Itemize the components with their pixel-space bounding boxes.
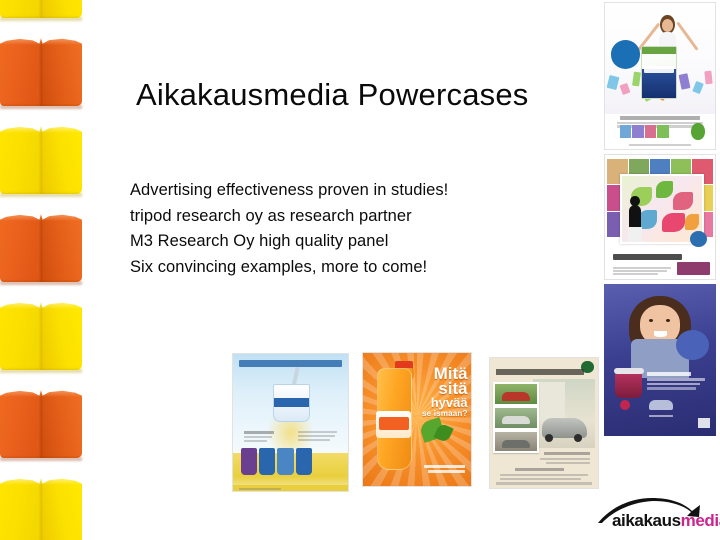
ad-image-fitness [604,2,716,150]
list-item: Six convincing examples, more to come! [130,255,560,281]
book-icon [0,390,82,458]
book-icon [0,38,82,106]
ad-image-fanta: Mitä sitä hyvää se ismaan? [362,352,472,487]
slide-canvas: Aikakausmedia Powercases Advertising eff… [0,0,720,540]
logo-word-media: media [681,511,720,530]
list-item: Advertising effectiveness proven in stud… [130,178,560,204]
page-title: Aikakausmedia Powercases [136,76,606,114]
berry-graphic [620,400,630,411]
ad-image-yoghurt [232,353,349,492]
list-item: M3 Research Oy high quality panel [130,229,560,255]
book-icon [0,126,82,194]
book-icon [0,302,82,370]
book-icon [0,478,82,540]
speech-bubble [676,330,710,360]
brand-mark [698,418,710,429]
logo-word-aikakaus: aikakaus [612,511,681,530]
book-decoration-strip [0,0,90,540]
logo-wordmark: aikakausmedia [612,512,720,529]
bullet-list: Advertising effectiveness proven in stud… [130,178,560,280]
ad-image-car [489,357,599,489]
book-icon [0,214,82,282]
yoghurt-pot [615,372,642,398]
ad-image-fabric [604,154,716,280]
car-graphic [649,400,674,411]
ad-image-girl [604,284,716,436]
list-item: tripod research oy as research partner [130,204,560,230]
book-icon [0,0,82,18]
aikakausmedia-logo: aikakausmedia [596,496,716,536]
